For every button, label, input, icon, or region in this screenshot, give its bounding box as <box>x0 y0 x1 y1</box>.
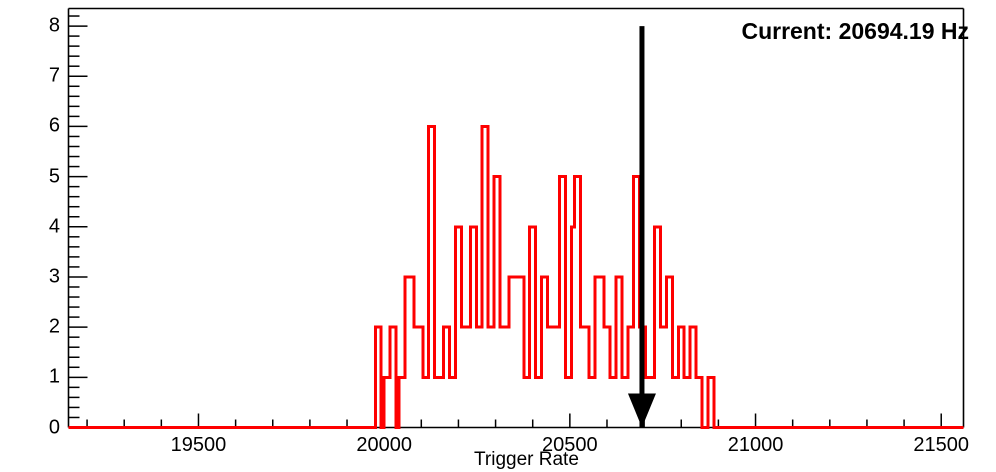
x-tick-label: 20000 <box>356 434 412 457</box>
y-tick-label: 5 <box>40 165 60 188</box>
axis-ticks <box>69 16 942 427</box>
plot-canvas: 012345678 1950020000205002100021500 Trig… <box>0 0 996 472</box>
plot-frame <box>69 9 964 428</box>
y-tick-label: 4 <box>40 215 60 238</box>
x-tick-label: 21000 <box>728 434 784 457</box>
y-tick-label: 7 <box>40 65 60 88</box>
y-tick-label: 6 <box>40 115 60 138</box>
current-value-marker <box>628 26 656 427</box>
histogram-plot <box>0 0 996 472</box>
histogram-series <box>69 126 964 427</box>
y-tick-label: 0 <box>40 416 60 439</box>
x-tick-label: 21500 <box>913 434 969 457</box>
x-axis-title: Trigger Rate <box>474 449 579 471</box>
y-tick-label: 2 <box>40 316 60 339</box>
x-tick-label: 19500 <box>171 434 227 457</box>
current-rate-readout: Current: 20694.19 Hz <box>741 18 969 45</box>
y-tick-label: 8 <box>40 15 60 38</box>
y-tick-label: 1 <box>40 366 60 389</box>
y-tick-label: 3 <box>40 265 60 288</box>
